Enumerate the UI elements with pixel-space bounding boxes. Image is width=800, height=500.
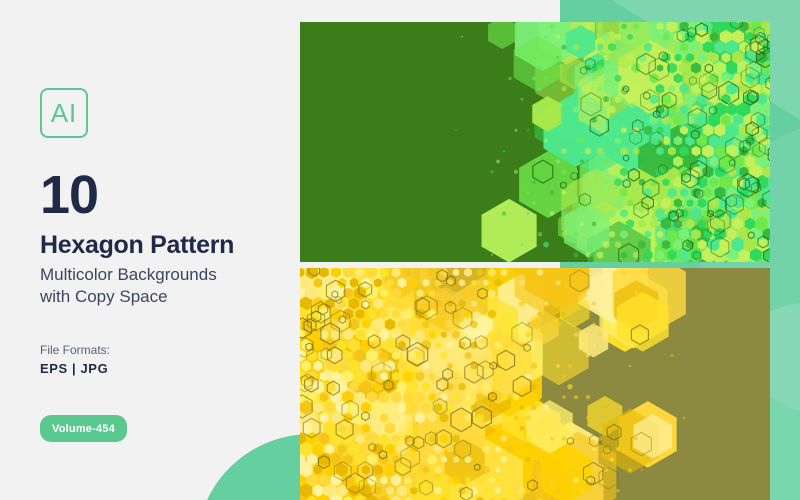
item-count: 10 xyxy=(40,168,98,222)
file-formats-label: File Formats: xyxy=(40,343,110,357)
ai-badge-label: AI xyxy=(51,100,78,126)
volume-badge: Volume-454 xyxy=(40,415,127,442)
green-pattern-canvas xyxy=(300,22,770,262)
poster-canvas: AI 10 Hexagon Pattern Multicolor Backgro… xyxy=(0,0,800,500)
page-title: Hexagon Pattern xyxy=(40,232,234,258)
yellow-hexagon-preview xyxy=(300,268,770,500)
volume-badge-label: Volume-454 xyxy=(52,423,115,435)
page-subtitle: Multicolor Backgrounds with Copy Space xyxy=(40,264,217,309)
subtitle-line-1: Multicolor Backgrounds xyxy=(40,264,217,286)
green-hexagon-preview xyxy=(300,22,770,262)
info-column: AI 10 Hexagon Pattern Multicolor Backgro… xyxy=(40,0,290,500)
yellow-pattern-canvas xyxy=(300,268,770,500)
ai-format-badge: AI xyxy=(40,88,88,138)
subtitle-line-2: with Copy Space xyxy=(40,286,217,308)
file-formats-value: EPS | JPG xyxy=(40,361,108,376)
